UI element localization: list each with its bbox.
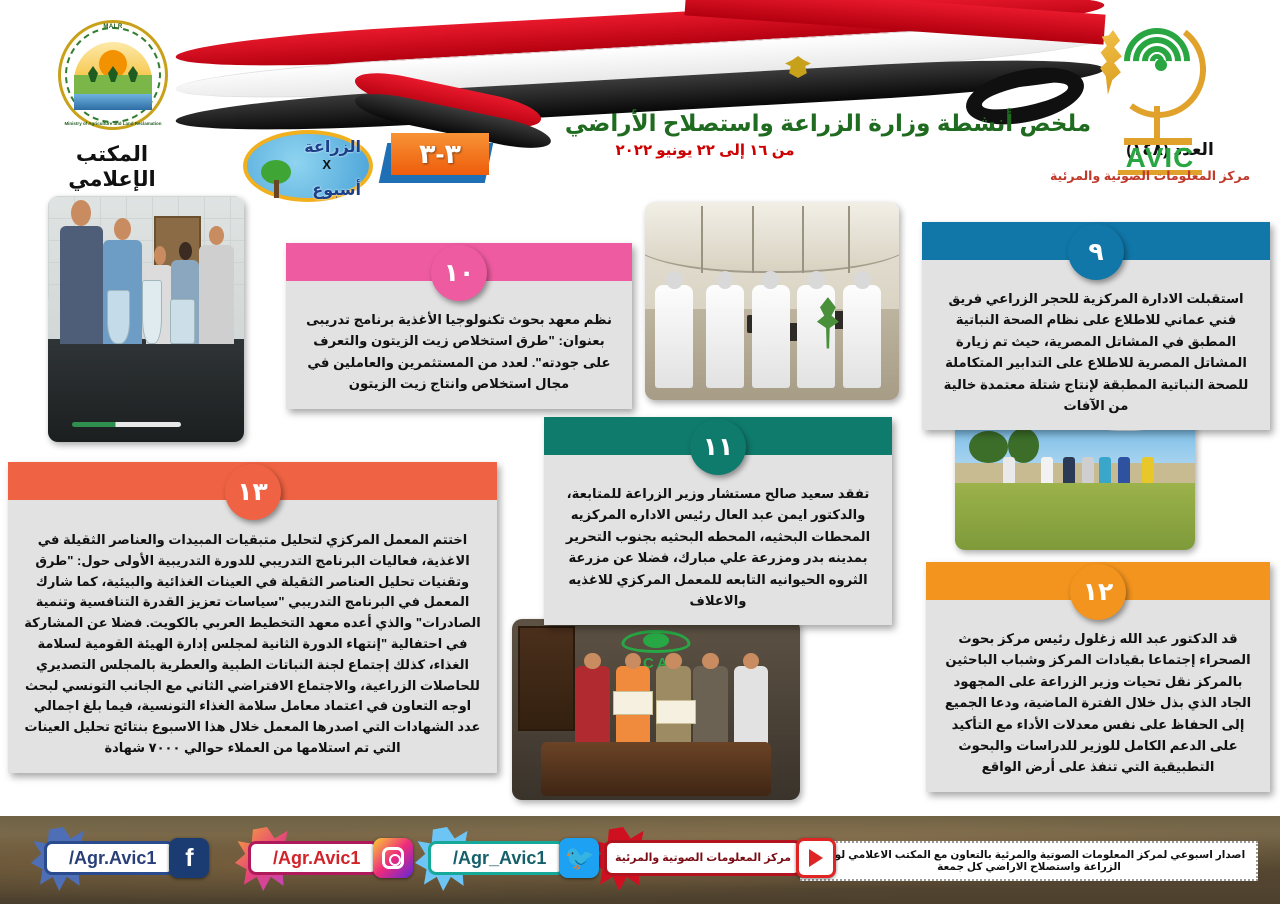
news-card-12: ١٢ قد الدكتور عبد الله زغلول رئيس مركز ب… — [926, 562, 1270, 792]
card-header: ١١ — [544, 417, 892, 455]
malr-ministry-logo: MALR Ministry of Agriculture and Land Re… — [58, 20, 168, 130]
nursery-greenhouse-photo — [645, 202, 899, 400]
photo-roof-beam — [701, 206, 703, 273]
youtube-link[interactable]: مركز المعلومات الصوتية والمرئية — [604, 838, 836, 878]
card-header: ٩ — [922, 222, 1270, 260]
malr-logo-top-text: MALR — [58, 24, 168, 30]
photo-person-head — [584, 653, 601, 670]
card-header: ١٠ — [286, 243, 632, 281]
photo-person-head — [179, 242, 192, 260]
card-text: تفقد سعيد صالح مستشار وزير الزراعة للمتا… — [544, 455, 892, 625]
malr-logo-bottom-text: Ministry of Agriculture and Land Reclama… — [58, 121, 168, 126]
photo-flask — [107, 290, 131, 344]
avic-stem-shape — [1154, 106, 1160, 142]
lab-training-photo — [48, 196, 244, 442]
footer-disclaimer: اصدار اسبوعي لمركز المعلومات الصوتية وال… — [800, 841, 1258, 881]
news-card-11: ١١ تفقد سعيد صالح مستشار وزير الزراعة لل… — [544, 417, 892, 625]
photo-roof-beam — [802, 206, 804, 273]
instagram-handle[interactable]: /Agr.Avic1 — [248, 841, 379, 875]
photo-conference-table — [541, 742, 771, 796]
photo-person-head — [666, 271, 683, 290]
tree-trunk-icon — [274, 180, 279, 198]
broadcast-waves-icon — [1120, 24, 1200, 98]
photo-person-head — [71, 200, 91, 226]
photo-lab-rod — [72, 422, 182, 427]
news-card-10: ١٠ نظم معهد بحوث تكنولوجيا الأغذية برنام… — [286, 243, 632, 409]
photo-grass — [955, 483, 1195, 550]
photo-person-head — [808, 271, 825, 290]
wave-center-dot — [1155, 59, 1167, 71]
photo-person-head — [665, 653, 682, 670]
photo-person — [60, 226, 103, 344]
photo-person-labcoat — [843, 285, 881, 388]
photo-person-labcoat — [752, 285, 790, 388]
card-number-badge: ١١ — [690, 419, 746, 475]
qcap-certificate-ceremony-photo: QCAP — [512, 619, 800, 800]
card-text: قد الدكتور عبد الله زغلول رئيس مركز بحوث… — [926, 600, 1270, 792]
twitter-icon[interactable]: 🐦 — [559, 838, 599, 878]
twitter-bird-glyph: 🐦 — [564, 844, 594, 873]
twitter-link[interactable]: 🐦 /Agr_Avic1 — [428, 838, 599, 878]
photo-roof-beam — [848, 206, 850, 273]
card-number-badge: ١٢ — [1070, 564, 1126, 620]
youtube-icon[interactable] — [796, 838, 836, 878]
photo-certificate — [613, 691, 653, 715]
newsletter-page: MALR Ministry of Agriculture and Land Re… — [0, 0, 1280, 904]
photo-person-head — [743, 653, 760, 670]
photo-flask — [142, 280, 162, 344]
news-card-9: ٩ استقبلت الادارة المركزية للحجر الزراعي… — [922, 222, 1270, 430]
photo-person-labcoat — [655, 285, 693, 388]
news-card-13: ١٣ اختتم المعمل المركزي لتحليل متبقيات ا… — [8, 462, 497, 773]
photo-tree — [969, 431, 1007, 463]
page-number-badge: ٣-٣ — [383, 133, 489, 183]
photo-person — [575, 666, 610, 749]
photo-person-head — [762, 271, 779, 290]
photo-person — [199, 245, 234, 343]
card-number-badge: ١٠ — [431, 245, 487, 301]
instagram-glyph — [382, 847, 404, 869]
play-triangle-icon — [809, 849, 823, 867]
youtube-channel-label[interactable]: مركز المعلومات الصوتية والمرئية — [604, 840, 802, 876]
instagram-icon[interactable] — [373, 838, 413, 878]
photo-certificate — [656, 700, 696, 724]
photo-person — [693, 666, 728, 749]
date-range-label: من ١٦ إلى ٢٢ يونيو ٢٠٢٢ — [565, 141, 845, 159]
card-header: ١٣ — [8, 462, 497, 500]
card-number-badge: ١٣ — [225, 464, 281, 520]
malr-water-shape — [74, 94, 152, 110]
photo-cabinet — [518, 626, 576, 731]
photo-flask — [170, 299, 195, 343]
media-office-label: المكتب الإعلامي — [42, 142, 182, 192]
week-logo-line2: أسبوع — [312, 180, 361, 200]
photo-person-head — [702, 653, 719, 670]
card-text: استقبلت الادارة المركزية للحجر الزراعي ف… — [922, 260, 1270, 430]
instagram-link[interactable]: /Agr.Avic1 — [248, 838, 413, 878]
photo-roof-beam — [752, 206, 754, 273]
twitter-handle[interactable]: /Agr_Avic1 — [428, 841, 565, 875]
avic-logo: AVIC — [1068, 18, 1238, 178]
avic-subtitle: مركز المعلومات الصوتية والمرئية — [1040, 168, 1260, 183]
card-number-badge: ٩ — [1068, 224, 1124, 280]
photo-person-labcoat — [706, 285, 744, 388]
week-logo-line1: الزراعة — [304, 137, 361, 157]
photo-person-head — [154, 246, 166, 265]
photo-person-head — [717, 271, 734, 290]
page-header: MALR Ministry of Agriculture and Land Re… — [0, 0, 1280, 200]
photo-person — [734, 666, 769, 749]
page-title: ملخص أنشطة وزارة الزراعة واستصلاح الأراض… — [548, 110, 1108, 137]
card-header: ١٢ — [926, 562, 1270, 600]
agriculture-week-logo: الزراعة X أسبوع — [243, 130, 373, 202]
card-text: اختتم المعمل المركزي لتحليل متبقيات المب… — [8, 500, 497, 773]
badge-label: ٣-٣ — [419, 139, 461, 170]
photo-person-head — [854, 271, 871, 290]
facebook-link[interactable]: f /Agr.Avic1 — [44, 838, 209, 878]
photo-person-head — [625, 653, 642, 670]
week-logo-multiplier: X — [322, 157, 331, 172]
photo-greenhouse-roof — [645, 202, 899, 273]
badge-front-layer: ٣-٣ — [391, 133, 489, 175]
facebook-handle[interactable]: /Agr.Avic1 — [44, 841, 175, 875]
facebook-icon[interactable]: f — [169, 838, 209, 878]
